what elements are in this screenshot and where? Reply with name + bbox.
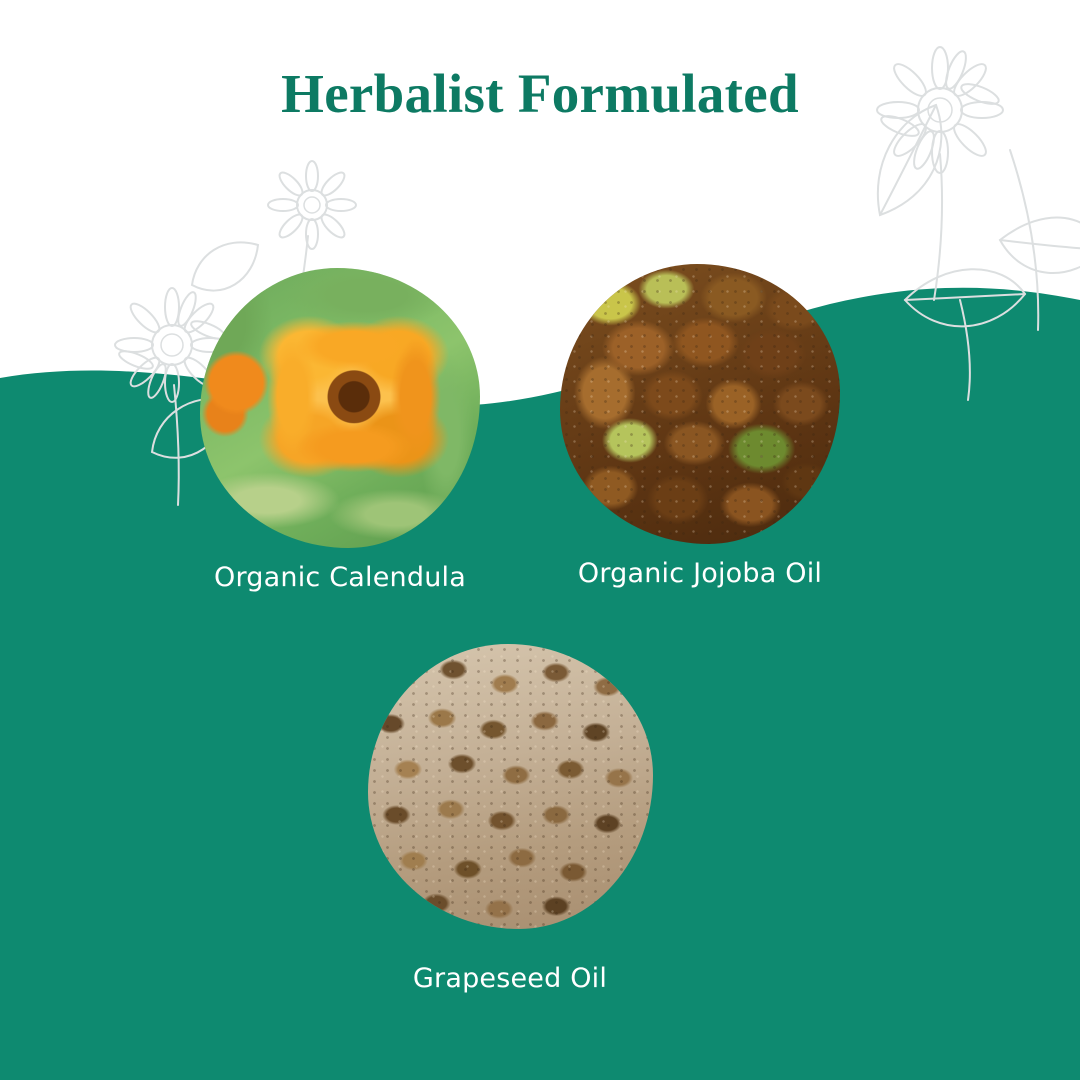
ingredient-label-grapeseed: Grapeseed Oil (360, 963, 660, 994)
jojoba-speckle-overlay (560, 264, 840, 544)
ingredient-item-jojoba: Organic Jojoba Oil (560, 264, 840, 589)
grapeseed-speckle-overlay (368, 644, 653, 929)
grapeseed-image (368, 644, 653, 929)
calendula-photo-texture (200, 268, 480, 548)
ingredient-infographic: Herbalist Formulated Organic Calendula O… (0, 0, 1080, 1080)
calendula-image (200, 268, 480, 548)
ingredient-label-jojoba: Organic Jojoba Oil (560, 558, 840, 589)
page-title: Herbalist Formulated (0, 62, 1080, 125)
ingredient-item-grapeseed: Grapeseed Oil (360, 644, 660, 994)
jojoba-image (560, 264, 840, 544)
ingredient-item-calendula: Organic Calendula (200, 268, 480, 593)
ingredient-label-calendula: Organic Calendula (200, 562, 480, 593)
